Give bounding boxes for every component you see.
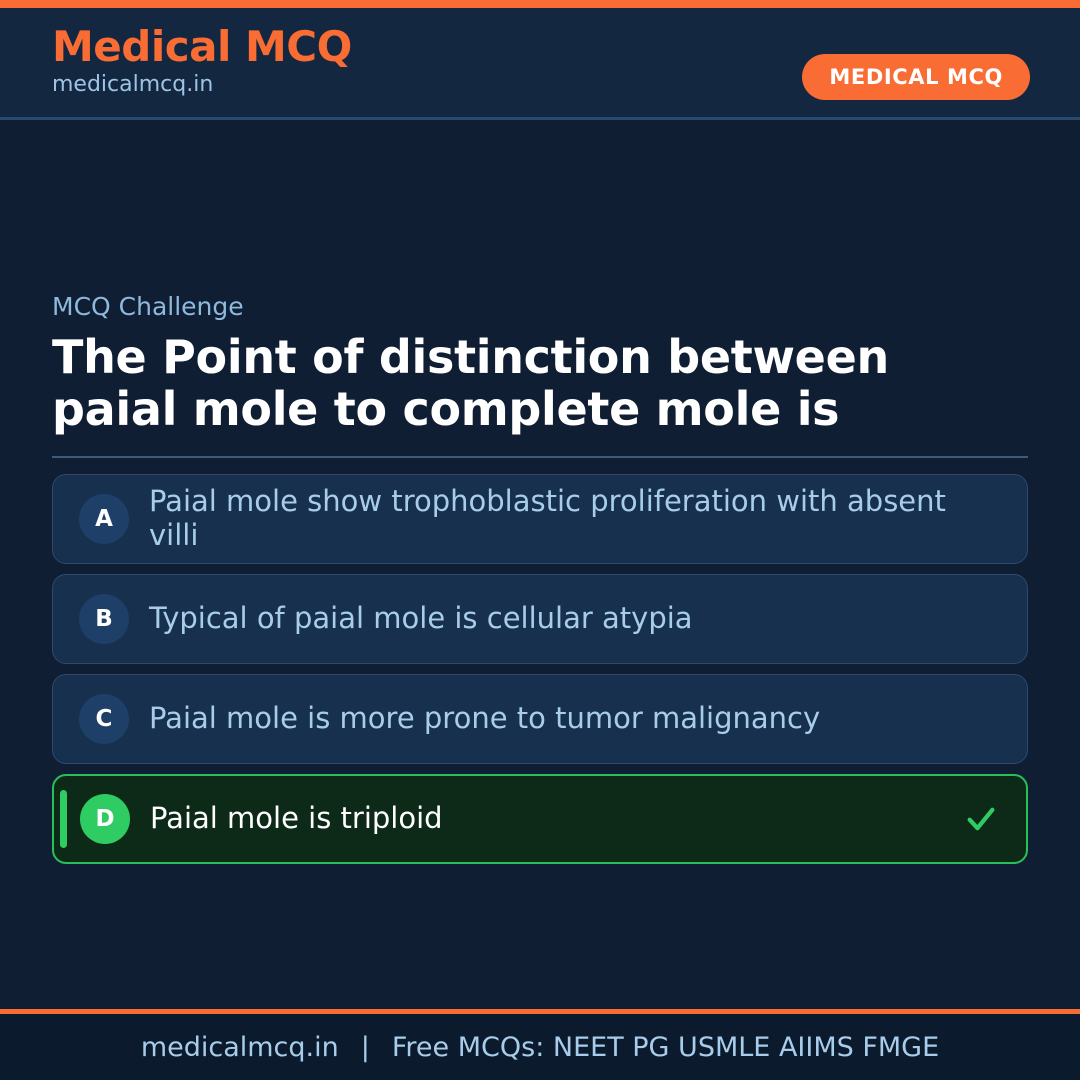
header-bar: Medical MCQ medicalmcq.in MEDICAL MCQ <box>0 8 1080 120</box>
option-letter-b: B <box>79 594 129 644</box>
brand-block: Medical MCQ medicalmcq.in <box>52 24 352 99</box>
brand-badge: MEDICAL MCQ <box>802 54 1030 100</box>
option-row-a[interactable]: A Paial mole show trophoblastic prolifer… <box>52 474 1028 564</box>
question-title: The Point of distinction between paial m… <box>52 331 1028 436</box>
top-accent-bar <box>0 0 1080 8</box>
footer-exams: Free MCQs: NEET PG USMLE AIIMS FMGE <box>392 1032 939 1063</box>
footer-separator: | <box>361 1032 370 1063</box>
brand-subtitle: medicalmcq.in <box>52 72 352 98</box>
question-divider <box>52 456 1028 458</box>
option-row-d[interactable]: D Paial mole is triploid <box>52 774 1028 864</box>
footer-bar: medicalmcq.in | Free MCQs: NEET PG USMLE… <box>0 1014 1080 1080</box>
options-list: A Paial mole show trophoblastic prolifer… <box>52 474 1028 874</box>
mcq-card: Medical MCQ medicalmcq.in MEDICAL MCQ MC… <box>0 0 1080 1080</box>
footer-site: medicalmcq.in <box>141 1032 339 1063</box>
option-text-d: Paial mole is triploid <box>150 802 443 836</box>
question-kicker: MCQ Challenge <box>52 292 1028 322</box>
option-letter-a: A <box>79 494 129 544</box>
option-letter-d: D <box>80 794 130 844</box>
brand-title: Medical MCQ <box>52 24 352 69</box>
check-icon <box>964 802 998 836</box>
option-row-c[interactable]: C Paial mole is more prone to tumor mali… <box>52 674 1028 764</box>
option-text-c: Paial mole is more prone to tumor malign… <box>149 702 820 736</box>
option-letter-c: C <box>79 694 129 744</box>
option-text-a: Paial mole show trophoblastic proliferat… <box>149 485 965 553</box>
option-row-b[interactable]: B Typical of paial mole is cellular atyp… <box>52 574 1028 664</box>
question-block: MCQ Challenge The Point of distinction b… <box>52 292 1028 436</box>
option-text-b: Typical of paial mole is cellular atypia <box>149 602 693 636</box>
correct-accent-bar <box>60 790 67 848</box>
